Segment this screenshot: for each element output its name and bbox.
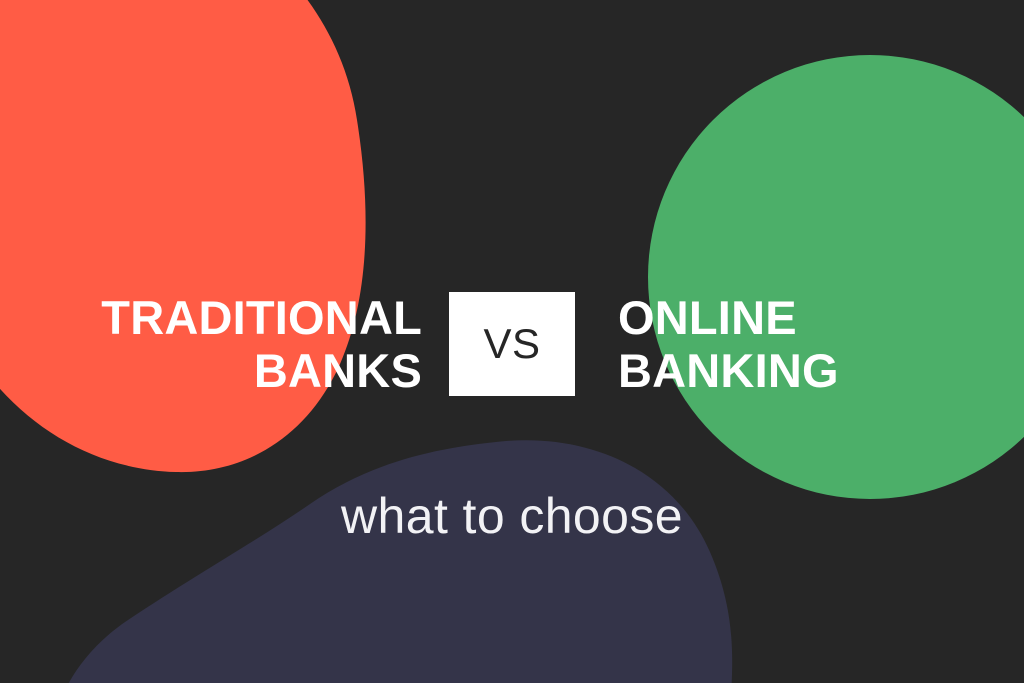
right-headline-online-banking: ONLINE BANKING (575, 291, 941, 397)
poster-content: TRADITIONAL BANKS VS ONLINE BANKING what… (0, 0, 1024, 683)
vs-badge-label: VS (483, 323, 540, 365)
poster-canvas: TRADITIONAL BANKS VS ONLINE BANKING what… (0, 0, 1024, 683)
headline-row: TRADITIONAL BANKS VS ONLINE BANKING (0, 282, 1024, 406)
left-headline-traditional-banks: TRADITIONAL BANKS (83, 291, 449, 397)
vs-badge: VS (449, 292, 575, 396)
subtitle-what-to-choose: what to choose (0, 487, 1024, 545)
